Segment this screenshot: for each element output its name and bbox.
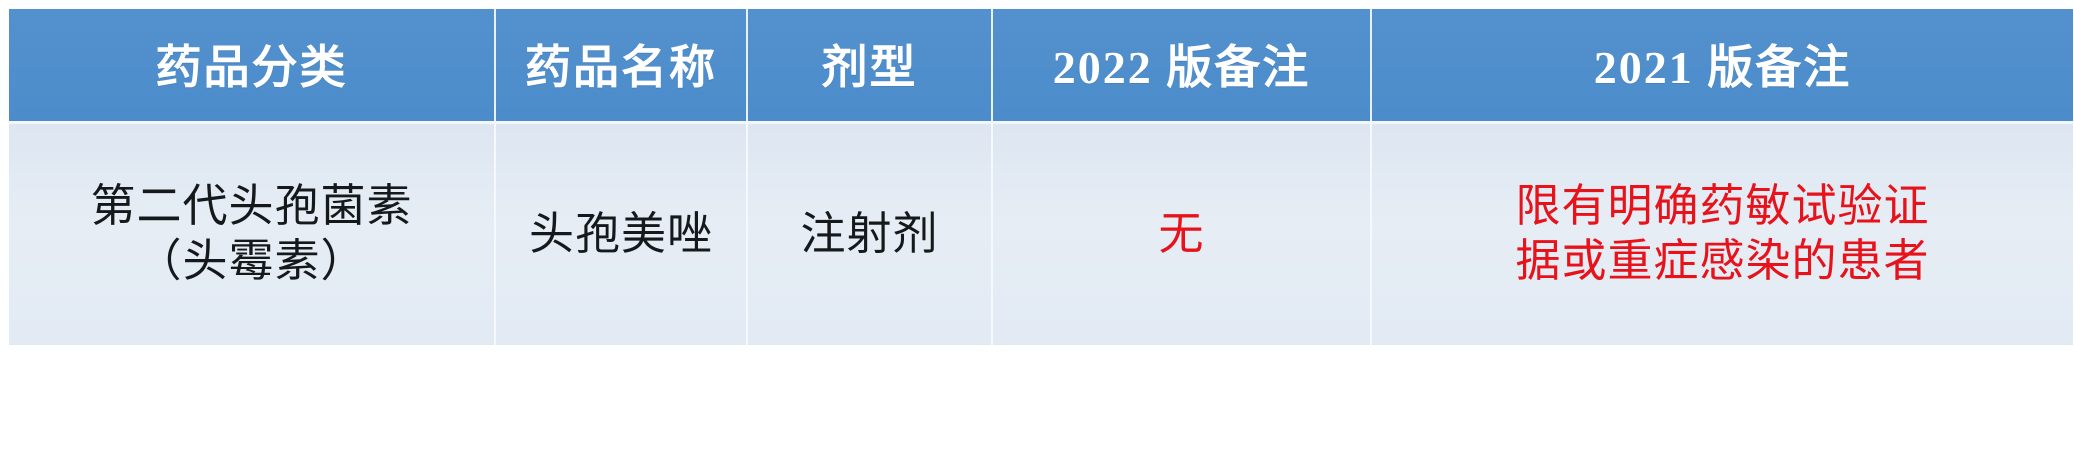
column-header-note-2022-label: 2022 版备注	[993, 36, 1370, 94]
cell-name: 头孢美唑	[495, 122, 747, 345]
cell-category-text: 第二代头孢菌素 （头霉素）	[9, 179, 494, 289]
document-canvas: 药品分类 药品名称 剂型 2022 版备注 2021 版备注 第二代头孢	[0, 0, 2074, 454]
column-header-category-label: 药品分类	[9, 36, 494, 94]
cell-note-2021-text: 限有明确药敏试验证 据或重症感染的患者	[1372, 179, 2073, 289]
column-header-form-label: 剂型	[748, 36, 991, 94]
column-header-category: 药品分类	[9, 9, 495, 122]
cell-note-2021: 限有明确药敏试验证 据或重症感染的患者	[1371, 122, 2073, 345]
column-header-note-2021-label: 2021 版备注	[1372, 36, 2073, 94]
cell-form: 注射剂	[747, 122, 992, 345]
cell-note-2022: 无	[992, 122, 1371, 345]
column-header-note-2021: 2021 版备注	[1371, 9, 2073, 122]
cell-form-text: 注射剂	[748, 207, 991, 262]
cell-note-2022-text: 无	[993, 207, 1370, 262]
drug-comparison-table: 药品分类 药品名称 剂型 2022 版备注 2021 版备注 第二代头孢	[9, 9, 2073, 345]
table-row: 第二代头孢菌素 （头霉素） 头孢美唑 注射剂 无 限有明确药敏试验证 据或重症感…	[9, 122, 2073, 345]
table-body: 第二代头孢菌素 （头霉素） 头孢美唑 注射剂 无 限有明确药敏试验证 据或重症感…	[9, 122, 2073, 345]
table-header: 药品分类 药品名称 剂型 2022 版备注 2021 版备注	[9, 9, 2073, 122]
column-header-name: 药品名称	[495, 9, 747, 122]
cell-category: 第二代头孢菌素 （头霉素）	[9, 122, 495, 345]
column-header-name-label: 药品名称	[496, 36, 746, 94]
cell-name-text: 头孢美唑	[496, 207, 746, 262]
table-header-row: 药品分类 药品名称 剂型 2022 版备注 2021 版备注	[9, 9, 2073, 122]
column-header-note-2022: 2022 版备注	[992, 9, 1371, 122]
column-header-form: 剂型	[747, 9, 992, 122]
